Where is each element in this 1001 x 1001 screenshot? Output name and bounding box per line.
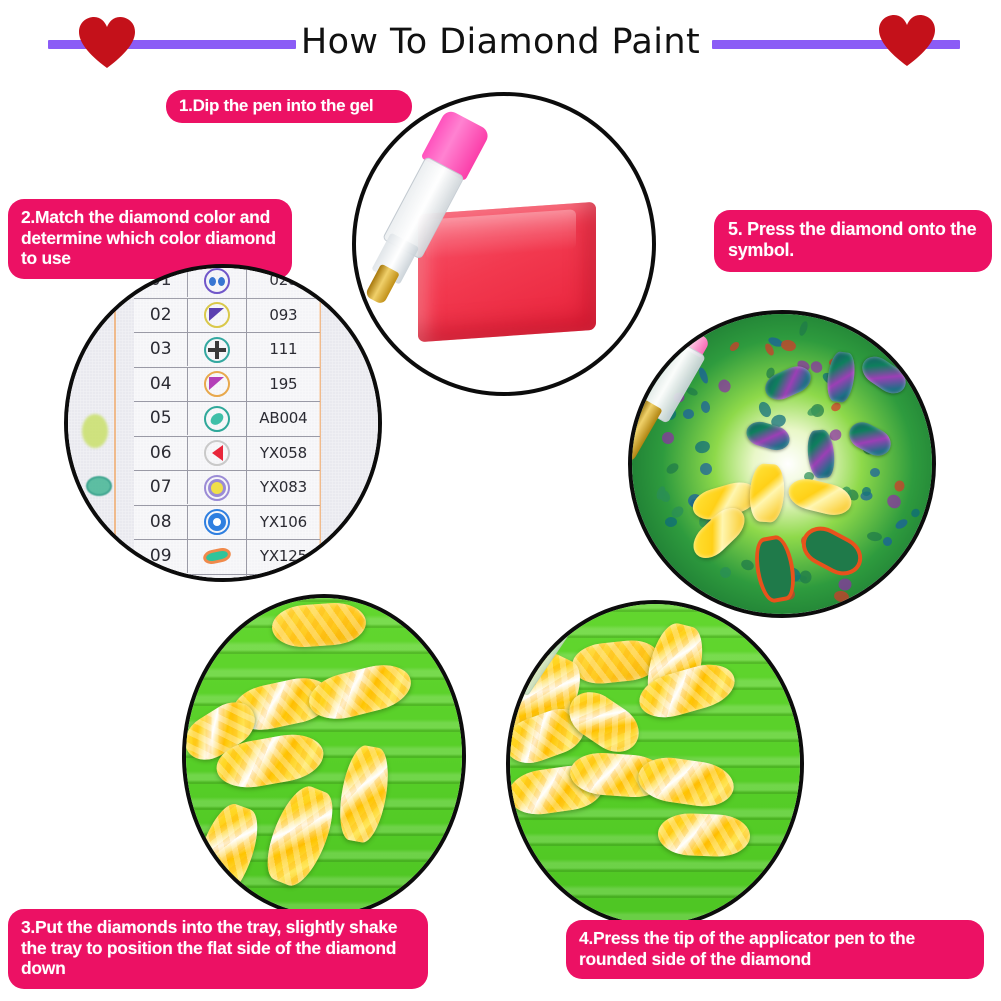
row-number: 08 (134, 506, 188, 539)
row-symbol-cell (188, 299, 246, 333)
row-number: 02 (134, 299, 188, 332)
row-color-code: 028 (247, 268, 320, 297)
step-2-photo: 0102802093031110419505AB00406YX05807YX08… (64, 264, 382, 582)
row-symbol-cell (188, 268, 246, 298)
step-5-label: 5. Press the diamond onto the symbol. (714, 210, 992, 272)
diamond-gem (657, 812, 750, 857)
printed-symbol-dot (665, 517, 678, 528)
row-symbol-cell (188, 402, 246, 436)
printed-symbol-dot (884, 492, 903, 511)
printed-symbol-dot (694, 439, 711, 454)
row-number: 09 (134, 540, 188, 573)
printed-symbol-dot (833, 590, 850, 604)
row-color-code: 195 (247, 368, 320, 401)
color-chart-row: 08YX106 (134, 506, 320, 541)
row-symbol-cell (188, 506, 246, 540)
canvas-guide-line-left (114, 268, 116, 578)
row-number: 04 (134, 368, 188, 401)
printed-symbol-dot (799, 570, 811, 583)
printed-symbol-dot (728, 340, 741, 353)
row-symbol-cell (188, 471, 246, 505)
symbol-open-ring-icon (204, 509, 230, 535)
row-number: 10 (134, 575, 188, 578)
canvas-sheet: 0102802093031110419505AB00406YX05807YX08… (68, 268, 378, 578)
color-chart-row: 07YX083 (134, 471, 320, 506)
row-color-code: YX058 (247, 437, 320, 470)
printed-symbol-dot (683, 409, 695, 420)
step-1-photo (352, 92, 656, 396)
row-symbol-cell (188, 368, 246, 402)
row-color-code: 093 (247, 299, 320, 332)
printed-symbol-dot (716, 378, 732, 395)
row-color-code: YX125 (247, 540, 320, 573)
row-symbol-cell (188, 437, 246, 471)
page-title: How To Diamond Paint (0, 22, 1001, 62)
color-chart-row: 06YX058 (134, 437, 320, 472)
printed-symbol-dot (757, 400, 774, 419)
symbol-dot-in-ring-icon (204, 475, 230, 501)
color-symbol-table: 0102802093031110419505AB00406YX05807YX08… (134, 268, 320, 578)
row-number: 05 (134, 402, 188, 435)
printed-symbol-dot (700, 400, 711, 413)
step-5-photo (628, 310, 936, 618)
row-color-code: AB004 (247, 402, 320, 435)
symbol-leaf-icon (204, 544, 230, 570)
printed-symbol-dot (870, 468, 880, 477)
printed-symbol-dot (808, 359, 824, 375)
step-3-label: 3.Put the diamonds into the tray, slight… (8, 909, 428, 989)
row-symbol-cell (188, 333, 246, 367)
color-chart-row: 03111 (134, 333, 320, 368)
printed-symbol-dot (798, 320, 810, 336)
color-chart-row: 01028 (134, 268, 320, 299)
color-chart-row: 05AB004 (134, 402, 320, 437)
printed-symbol-dot (893, 480, 905, 493)
row-color-code: 111 (247, 333, 320, 366)
color-chart-row: 10 (134, 575, 320, 579)
symbol-triangle-icon (204, 302, 230, 328)
row-color-code: YX106 (247, 506, 320, 539)
step-4-photo (506, 600, 804, 928)
symbol-double-dot-circle-icon (204, 268, 230, 294)
stray-mark-teal (86, 476, 112, 496)
printed-symbol-dot (830, 401, 843, 413)
row-number: 07 (134, 471, 188, 504)
step-3-photo (182, 594, 466, 918)
row-number: 03 (134, 333, 188, 366)
infographic-canvas: How To Diamond Paint 1.Dip the pen into … (0, 0, 1001, 1001)
row-symbol-cell (188, 575, 246, 579)
color-chart-row: 09YX125 (134, 540, 320, 575)
row-number: 01 (134, 268, 188, 297)
row-number: 06 (134, 437, 188, 470)
step-4-label: 4.Press the tip of the applicator pen to… (566, 920, 984, 979)
mandala-canvas (632, 314, 932, 614)
printed-symbol-dot (780, 339, 797, 353)
row-color-code: YX083 (247, 471, 320, 504)
printed-symbol-dot (740, 558, 756, 572)
symbol-triangle-icon (204, 371, 230, 397)
printed-symbol-dot (719, 566, 732, 579)
row-symbol-cell (188, 540, 246, 574)
symbol-plus-icon (204, 337, 230, 363)
printed-symbol-dot (881, 535, 893, 547)
symbol-arrow-left-icon (204, 440, 230, 466)
printed-symbol-dot (839, 579, 852, 591)
diamond-gem (271, 601, 368, 649)
stray-mark-green (82, 414, 108, 448)
printed-symbol-dot (894, 517, 909, 531)
printed-symbol-dot (700, 463, 712, 475)
symbol-slash-oval-icon (204, 406, 230, 432)
color-chart-row: 04195 (134, 368, 320, 403)
printed-symbol-dot (867, 531, 883, 542)
printed-symbol-dot (909, 507, 921, 519)
printed-symbol-dot (665, 461, 681, 476)
color-chart-row: 02093 (134, 299, 320, 334)
